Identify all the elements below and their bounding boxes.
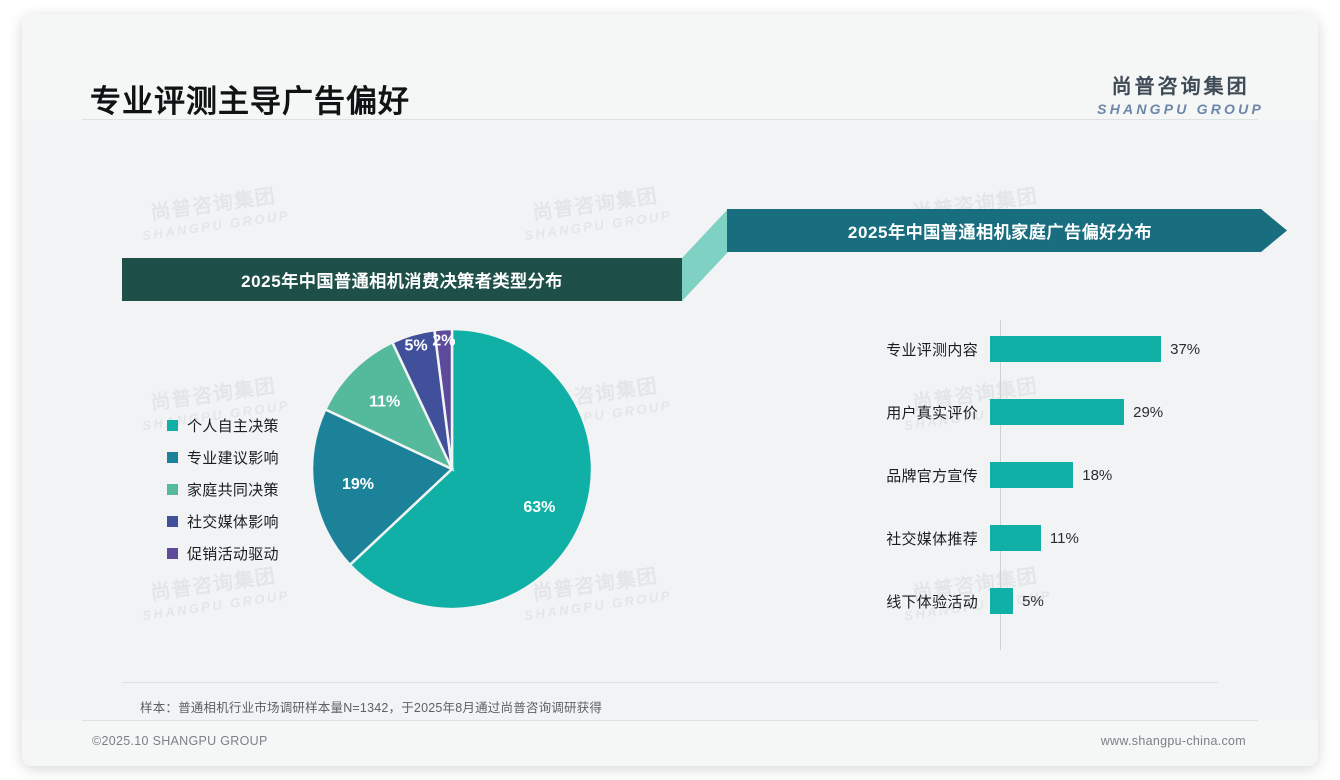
legend-label: 个人自主决策 <box>187 415 279 436</box>
banner-connector-shape <box>682 209 728 301</box>
logo-english-text: SHANGPU GROUP <box>1097 101 1264 117</box>
slide-card: 尚普咨询集团 SHANGPU GROUP 尚普咨询集团 SHANGPU GROU… <box>22 14 1318 766</box>
watermark-cn: 尚普咨询集团 <box>520 184 671 228</box>
legend-color-swatch <box>167 420 178 431</box>
legend-label: 家庭共同决策 <box>187 479 279 500</box>
bar-chart-row[interactable]: 社交媒体推荐11% <box>722 521 1282 555</box>
slide-header: 专业评测主导广告偏好 尚普咨询集团 SHANGPU GROUP <box>22 14 1318 120</box>
pie-legend-item[interactable]: 促销活动驱动 <box>167 537 279 569</box>
legend-color-swatch <box>167 452 178 463</box>
brand-logo: 尚普咨询集团 SHANGPU GROUP <box>1097 70 1264 117</box>
bar-value-label: 37% <box>1170 341 1200 358</box>
pie-slice-label: 5% <box>405 337 428 354</box>
pie-legend-item[interactable]: 社交媒体影响 <box>167 505 279 537</box>
bar-chart-row[interactable]: 用户真实评价29% <box>722 395 1282 429</box>
chart-banner-right: 2025年中国普通相机家庭广告偏好分布 <box>727 209 1287 252</box>
legend-label: 专业建议影响 <box>187 447 279 468</box>
slide-footer: ©2025.10 SHANGPU GROUP www.shangpu-china… <box>22 720 1318 766</box>
legend-color-swatch <box>167 548 178 559</box>
legend-label: 社交媒体影响 <box>187 511 279 532</box>
pie-legend-item[interactable]: 家庭共同决策 <box>167 473 279 505</box>
bar-value-label: 29% <box>1133 404 1163 421</box>
copyright-text: ©2025.10 SHANGPU GROUP <box>92 734 268 748</box>
bar-category-label: 专业评测内容 <box>722 339 990 360</box>
footnote-text: 样本：普通相机行业市场调研样本量N=1342，于2025年8月通过尚普咨询调研获… <box>140 697 602 716</box>
bar-category-label: 用户真实评价 <box>722 402 990 423</box>
bar-category-label: 品牌官方宣传 <box>722 465 990 486</box>
bar-category-label: 线下体验活动 <box>722 591 990 612</box>
pie-legend-item[interactable]: 专业建议影响 <box>167 441 279 473</box>
bar-chart-row[interactable]: 线下体验活动5% <box>722 584 1282 618</box>
chart-banner-right-label: 2025年中国普通相机家庭广告偏好分布 <box>848 218 1152 243</box>
bar-value-label: 5% <box>1022 593 1044 610</box>
bar-fill[interactable] <box>990 399 1124 425</box>
watermark-en: SHANGPU GROUP <box>523 207 672 243</box>
pie-slice-label: 19% <box>342 476 374 493</box>
logo-chinese-text: 尚普咨询集团 <box>1097 70 1264 99</box>
watermark-en: SHANGPU GROUP <box>141 207 290 243</box>
legend-color-swatch <box>167 484 178 495</box>
pie-chart-section: 63%19%11%5%2% 个人自主决策专业建议影响家庭共同决策社交媒体影响促销… <box>122 314 702 664</box>
bar-fill[interactable] <box>990 588 1013 614</box>
legend-label: 促销活动驱动 <box>187 543 279 564</box>
bar-chart-row[interactable]: 品牌官方宣传18% <box>722 458 1282 492</box>
pie-slice-label: 63% <box>523 499 555 516</box>
website-url[interactable]: www.shangpu-china.com <box>1101 734 1246 748</box>
bar-value-label: 11% <box>1050 530 1079 547</box>
pie-slice-label: 2% <box>432 332 455 349</box>
chart-banner-left: 2025年中国普通相机消费决策者类型分布 <box>122 258 682 301</box>
bar-fill[interactable] <box>990 462 1073 488</box>
bar-fill[interactable] <box>990 525 1041 551</box>
pie-slice-label: 11% <box>369 394 400 411</box>
legend-color-swatch <box>167 516 178 527</box>
footnote-divider <box>122 682 1218 683</box>
pie-legend: 个人自主决策专业建议影响家庭共同决策社交媒体影响促销活动驱动 <box>167 409 279 569</box>
pie-chart: 63%19%11%5%2% <box>307 324 597 614</box>
watermark-cn: 尚普咨询集团 <box>138 184 289 228</box>
chart-banner-left-label: 2025年中国普通相机消费决策者类型分布 <box>241 267 563 292</box>
bar-value-label: 18% <box>1082 467 1112 484</box>
watermark: 尚普咨询集团 SHANGPU GROUP <box>138 184 291 243</box>
page-title: 专业评测主导广告偏好 <box>90 76 410 121</box>
pie-legend-item[interactable]: 个人自主决策 <box>167 409 279 441</box>
watermark: 尚普咨询集团 SHANGPU GROUP <box>520 184 673 243</box>
bar-category-label: 社交媒体推荐 <box>722 528 990 549</box>
bar-chart-row[interactable]: 专业评测内容37% <box>722 332 1282 366</box>
bar-chart-section: 专业评测内容37%用户真实评价29%品牌官方宣传18%社交媒体推荐11%线下体验… <box>722 314 1282 664</box>
bar-fill[interactable] <box>990 336 1161 362</box>
